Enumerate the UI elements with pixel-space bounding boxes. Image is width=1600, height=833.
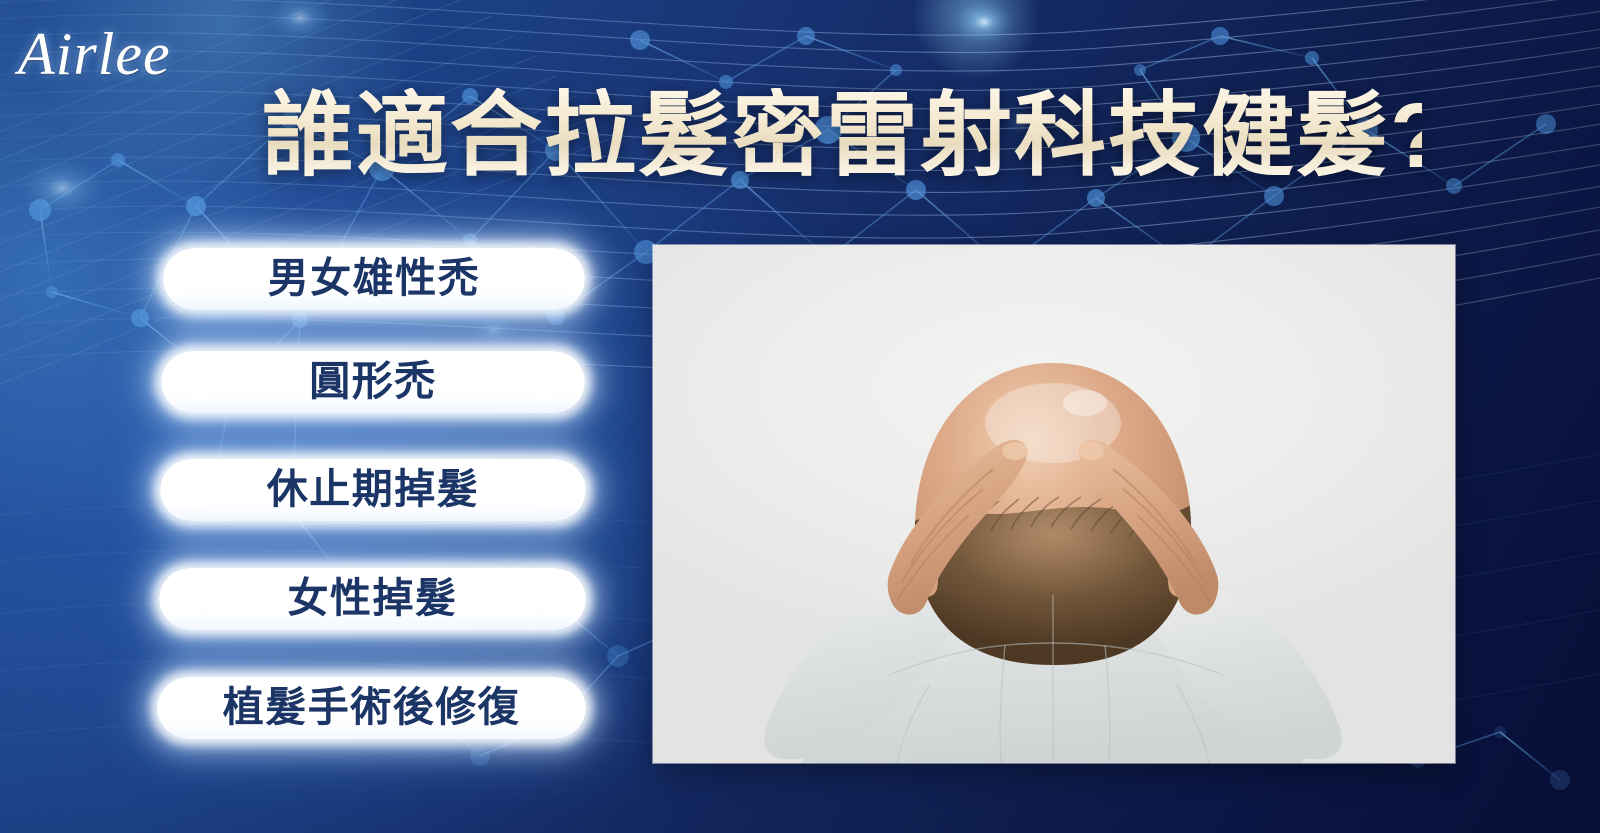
photo-illustration bbox=[653, 245, 1455, 763]
condition-pill[interactable]: 休止期掉髮 bbox=[160, 459, 586, 521]
slide-canvas: Airlee 誰適合拉髮密雷射科技健髮? 男女雄性禿圓形禿休止期掉髮女性掉髮植髮… bbox=[0, 0, 1600, 833]
condition-pill-label: 圓形禿 bbox=[309, 359, 437, 403]
condition-pill[interactable]: 女性掉髮 bbox=[159, 568, 586, 630]
brand-logo: Airlee bbox=[18, 14, 248, 94]
condition-pill[interactable]: 圓形禿 bbox=[161, 351, 585, 413]
condition-pill-label: 植髮手術後修復 bbox=[223, 685, 521, 729]
condition-pill[interactable]: 男女雄性禿 bbox=[163, 248, 585, 310]
page-title: 誰適合拉髮密雷射科技健髮? bbox=[262, 88, 1422, 184]
condition-pill-label: 女性掉髮 bbox=[288, 576, 458, 620]
condition-pill-label: 男女雄性禿 bbox=[268, 256, 481, 300]
condition-pill[interactable]: 植髮手術後修復 bbox=[157, 677, 586, 739]
condition-pill-label: 休止期掉髮 bbox=[267, 467, 480, 511]
hero-photo bbox=[653, 245, 1455, 763]
